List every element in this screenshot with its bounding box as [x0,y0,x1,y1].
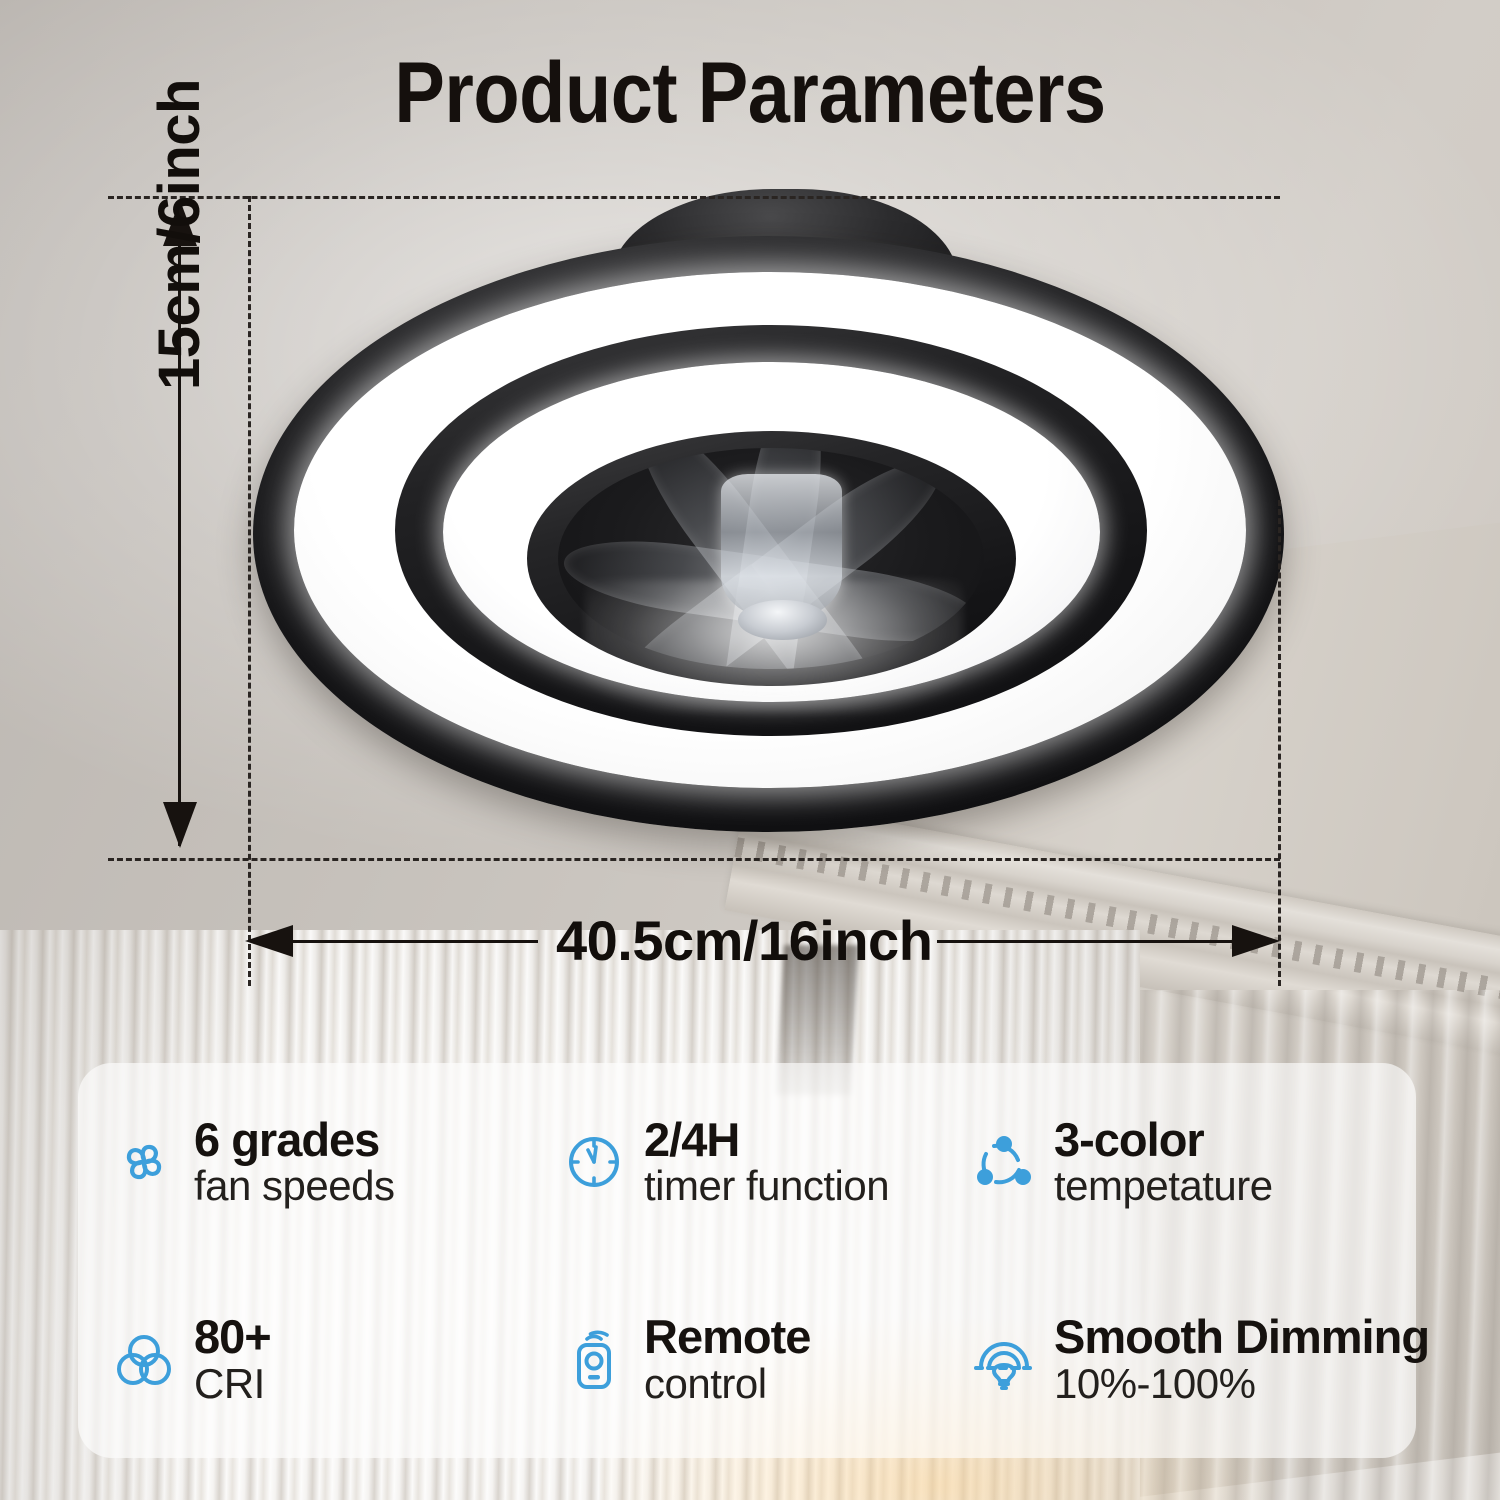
feature-grid: 6 grades fan speeds 2/4H timer function [78,1063,1416,1458]
feature-remote: Remote control [528,1312,938,1406]
feature-subtitle: CRI [194,1362,271,1407]
product-parameters-infographic: Product Parameters 15cm/6inch 40.5cm/ [0,0,1500,1500]
width-dimension-label: 40.5cm/16inch [556,908,932,973]
width-arrow-right-icon [1232,925,1280,957]
feature-subtitle: tempetature [1054,1164,1273,1209]
width-dimension-line-left [288,940,538,943]
remote-control-icon [562,1327,626,1391]
product-image [248,196,1300,858]
feature-text: Smooth Dimming 10%-100% [1054,1312,1429,1406]
guide-line-top [108,196,1280,199]
width-dimension-line-right [937,940,1242,943]
feature-title: 2/4H [644,1115,889,1165]
feature-subtitle: timer function [644,1164,889,1209]
height-arrow-down-icon [163,802,197,848]
feature-text: 80+ CRI [194,1312,271,1406]
feature-color-temperature: 3-color tempetature [938,1115,1416,1209]
feature-fan-speeds: 6 grades fan speeds [78,1115,528,1209]
feature-cri: 80+ CRI [78,1312,528,1406]
clock-icon [562,1130,626,1194]
dimming-bulb-icon [972,1327,1036,1391]
width-arrow-left-icon [245,925,293,957]
feature-title: 80+ [194,1312,271,1362]
height-dimension-label: 15cm/6inch [146,79,213,390]
feature-title: 3-color [1054,1115,1273,1165]
guide-line-right [1278,500,1281,986]
color-temperature-icon [972,1130,1036,1194]
feature-title: Remote [644,1312,810,1362]
page-title: Product Parameters [90,44,1410,143]
feature-timer: 2/4H timer function [528,1115,938,1209]
feature-text: Remote control [644,1312,810,1406]
feature-title: Smooth Dimming [1054,1312,1429,1362]
hub-cap [738,600,826,640]
feature-smooth-dimming: Smooth Dimming 10%-100% [938,1312,1416,1406]
motor-hub [721,474,842,620]
cri-circles-icon [112,1327,176,1391]
guide-line-left [248,196,251,986]
feature-text: 6 grades fan speeds [194,1115,395,1209]
feature-subtitle: control [644,1362,810,1407]
feature-text: 2/4H timer function [644,1115,889,1209]
feature-subtitle: 10%-100% [1054,1362,1429,1407]
fan-blades-icon [112,1130,176,1194]
feature-subtitle: fan speeds [194,1164,395,1209]
guide-line-bottom [108,858,1280,861]
feature-text: 3-color tempetature [1054,1115,1273,1209]
feature-title: 6 grades [194,1115,395,1165]
